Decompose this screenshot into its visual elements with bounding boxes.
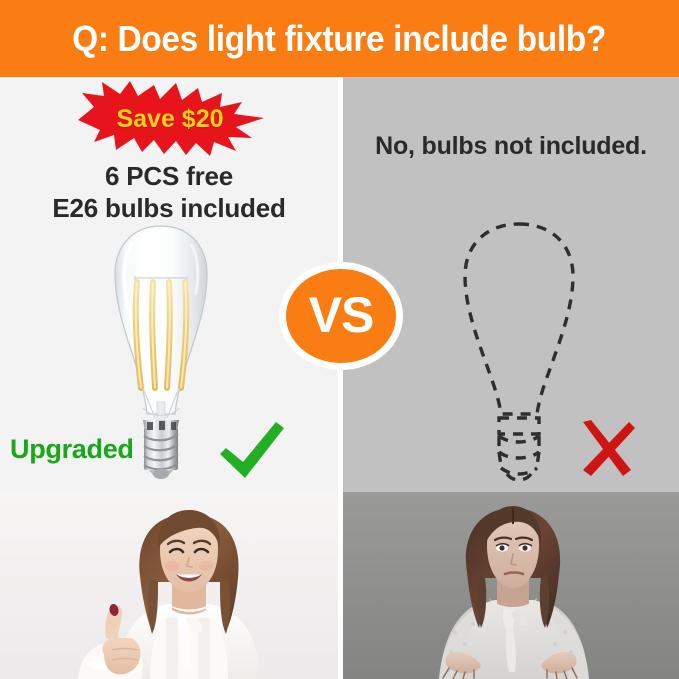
save-badge: Save $20 [72,80,268,158]
left-headline-line2: E26 bulbs included [0,192,338,224]
left-headline-line1: 6 PCS free [105,161,233,191]
bottom-photo-strip [0,492,679,679]
upgraded-label: Upgraded [10,434,134,465]
left-headline: 6 PCS free E26 bulbs included [0,160,338,224]
vs-label: VS [277,260,405,372]
photo-disappointed-customer [343,492,679,679]
missing-bulb-outline [455,218,583,484]
green-check-icon [216,416,288,484]
page-title: Q: Does light fixture include bulb? [73,18,607,60]
right-headline: No, bulbs not included. [343,132,679,161]
vs-badge: VS [277,260,405,372]
comparison-infographic: Q: Does light fixture include bulb? Save… [0,0,679,679]
red-cross-icon [575,418,637,480]
photo-happy-customer [0,492,338,679]
save-badge-label: Save $20 [72,80,268,158]
header-banner: Q: Does light fixture include bulb? [0,0,679,77]
